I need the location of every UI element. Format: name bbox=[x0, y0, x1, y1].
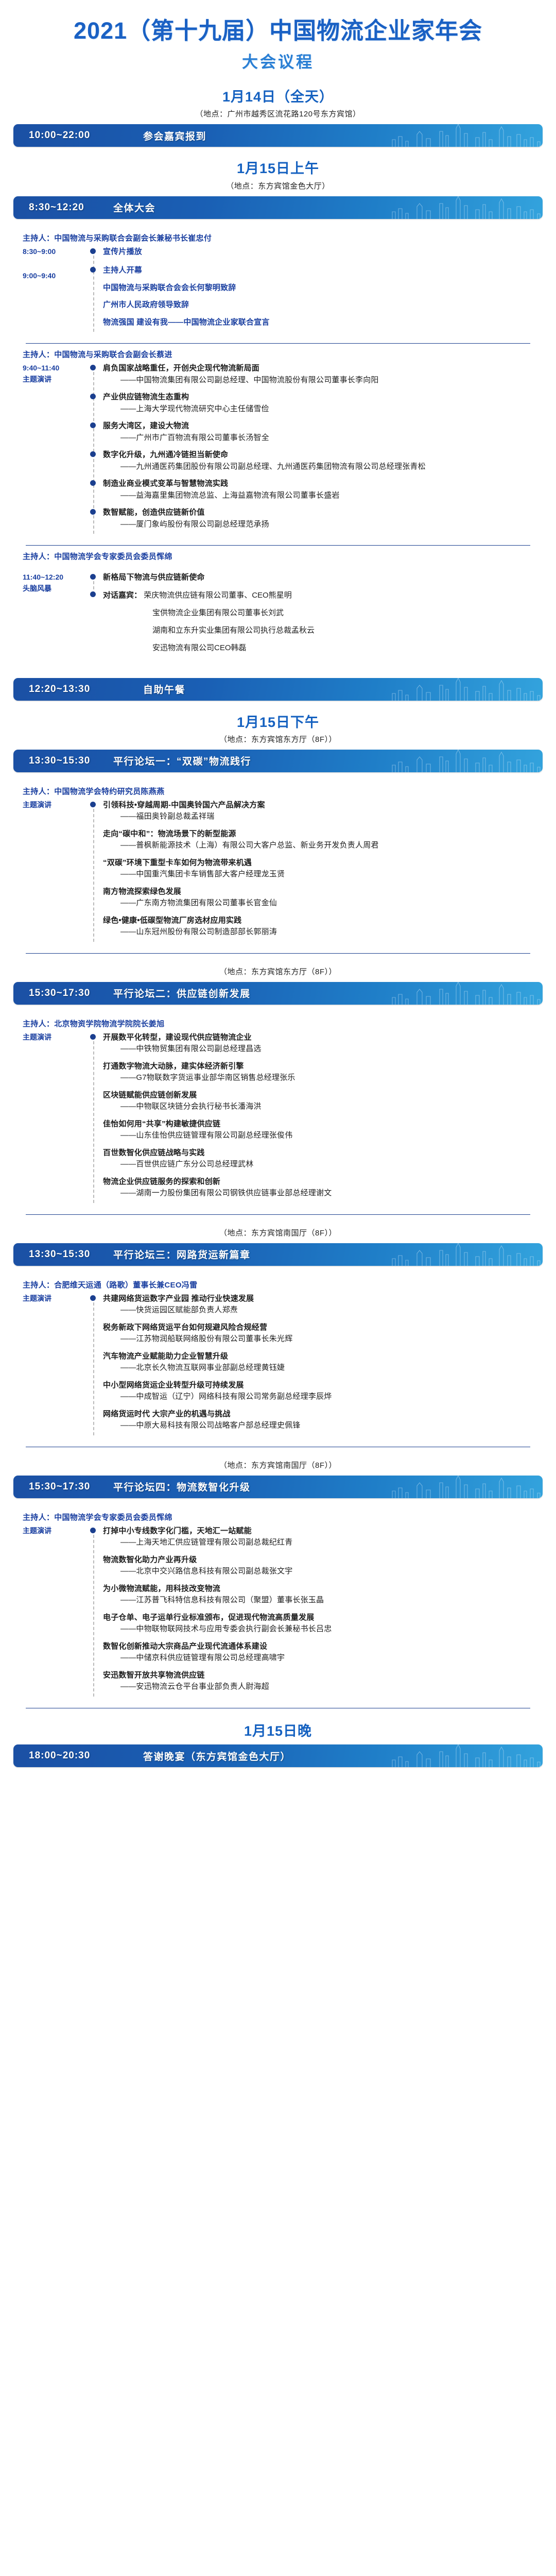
bullet-dot-icon bbox=[90, 248, 96, 254]
item-speaker: ——中成智运（辽宁）网络科技有限公司常务副总经理李辰烨 bbox=[103, 1391, 541, 1403]
item-speaker: ——中储京科供应链管理有限公司总经理高啸宇 bbox=[103, 1652, 541, 1664]
agenda-item: 中国物流与采购联合会会长何黎明致辞 bbox=[103, 282, 541, 294]
agenda-item: 服务大湾区，建设大物流 ——广州市广百物流有限公司董事长汤智全 bbox=[103, 420, 541, 444]
agenda-item: 新格局下物流与供应链新使命 bbox=[103, 572, 541, 584]
forum-3-session: 主持人：合肥维天运通（路歌）董事长兼CEO冯雷 主题演讲 共建网络货运数字产业园… bbox=[0, 1268, 556, 1452]
forum-4-venue-block: （地点：东方宾馆南国厅（8F）） bbox=[0, 1460, 556, 1470]
agenda-item: 数智化创新推动大宗商品产业现代流通体系建设 ——中储京科供应链管理有限公司总经理… bbox=[103, 1641, 541, 1664]
item-title: 百世数智化供应链战略与实践 bbox=[103, 1147, 541, 1159]
agenda-item: 为小微物流赋能，用科技改变物流 ——江苏普飞科特信息科技有限公司（聚盟）董事长张… bbox=[103, 1583, 541, 1606]
item-title: 制造业商业模式变革与智慧物流实践 bbox=[103, 478, 541, 490]
item-speaker: ——中国物流集团有限公司副总经理、中国物流股份有限公司董事长李向阳 bbox=[103, 375, 541, 386]
banner-label: 全体大会 bbox=[113, 200, 155, 214]
dialogue-label: 对话嘉宾： bbox=[103, 591, 142, 600]
item-speaker: ——益海嘉里集团物流总监、上海益嘉物流有限公司董事长盛岩 bbox=[103, 490, 541, 502]
item-speaker: ——山东佳怡供应链管理有限公司副总经理张俊伟 bbox=[103, 1130, 541, 1142]
timeline-time: 主题演讲 bbox=[15, 800, 89, 944]
day-venue: （地点：东方宾馆南国厅（8F）） bbox=[0, 1227, 556, 1238]
item-speaker: ——湖南一力股份集团有限公司钢铁供应链事业部总经理谢文 bbox=[103, 1188, 541, 1199]
banner-label: 自助午餐 bbox=[143, 682, 185, 696]
host-line: 主持人：中国物流与采购联合会副会长蔡进 bbox=[23, 349, 541, 360]
item-speaker: ——安迅物流云仓平台事业部负责人尉海超 bbox=[103, 1681, 541, 1693]
item-title: 数智化创新推动大宗商品产业现代流通体系建设 bbox=[103, 1641, 541, 1653]
banner-label: 平行论坛三：网路货运新篇章 bbox=[113, 1247, 251, 1261]
item-title: 打通数字物流大动脉，建实体经济新引擎 bbox=[103, 1061, 541, 1073]
agenda-item: 打通数字物流大动脉，建实体经济新引擎 ——G7物联数字货运事业部华南区销售总经理… bbox=[103, 1061, 541, 1084]
timeline-items: 打掉中小专线数字化门槛，天地汇一站赋能 ——上海天地汇供应链管理有限公司副总裁纪… bbox=[100, 1526, 541, 1699]
banner-banquet: 18:00~20:30 答谢晚宴（东方宾馆金色大厅） bbox=[13, 1744, 543, 1767]
item-title: 打掉中小专线数字化门槛，天地汇一站赋能 bbox=[103, 1526, 541, 1537]
item-title: 税务新政下网络货运平台如何规避风险合规经营 bbox=[103, 1322, 541, 1334]
timeline-block: 主题演讲 开展数平化转型，建设现代供应链物流企业 ——中铁物贸集团有限公司副总经… bbox=[15, 1032, 541, 1205]
time-kind: 主题演讲 bbox=[23, 1032, 89, 1043]
time-range: 9:40~11:40 bbox=[23, 363, 89, 374]
agenda-item: 物流企业供应链服务的探索和创新 ——湖南一力股份集团有限公司钢铁供应链事业部总经… bbox=[103, 1176, 541, 1199]
rail-line bbox=[93, 250, 94, 332]
banner-forum-3: 13:30~15:30 平行论坛三：网路货运新篇章 bbox=[13, 1243, 543, 1266]
agenda-item: 产业供应链物流生态重构 ——上海大学现代物流研究中心主任储雪俭 bbox=[103, 392, 541, 415]
item-speaker: ——上海天地汇供应链管理有限公司副总裁纪红青 bbox=[103, 1537, 541, 1549]
day-heading-jan14: 1月14日（全天） （地点：广州市越秀区流花路120号东方宾馆） bbox=[0, 89, 556, 119]
item-speaker: ——广州市广百物流有限公司董事长汤智全 bbox=[103, 432, 541, 444]
item-title: 绿色•健康•低碳型物流厂房选材应用实践 bbox=[103, 915, 541, 927]
agenda-item: 走向“碳中和”：物流场景下的新型能源 ——普枫新能源技术（上海）有限公司大客户总… bbox=[103, 828, 541, 852]
agenda-item: 共建网络货运数字产业园 推动行业快速发展 ——快货运园区赋能部负责人郑焘 bbox=[103, 1293, 541, 1316]
banner-forum-2: 15:30~17:30 平行论坛二：供应链创新发展 bbox=[13, 982, 543, 1005]
agenda-item: 对话嘉宾： 荣庆物流供应链有限公司董事、CEO熊星明 bbox=[103, 589, 541, 602]
time-kind: 头脑风暴 bbox=[23, 583, 89, 595]
forum-1-session: 主持人：中国物流学会特约研究员陈燕燕 主题演讲 引领科技•穿越周期-中国奥铃国六… bbox=[0, 774, 556, 959]
timeline-time: 11:40~12:20 头脑风暴 bbox=[15, 572, 89, 659]
bullet-dot-icon bbox=[90, 1034, 96, 1040]
timeline-block-keynotes: 9:40~11:40 主题演讲 肩负国家战略重任，开创央企现代物流新局面 ——中… bbox=[15, 363, 541, 536]
timeline-block: 主题演讲 打掉中小专线数字化门槛，天地汇一站赋能 ——上海天地汇供应链管理有限公… bbox=[15, 1526, 541, 1699]
agenda-item: 数字化升级，九州通冷链担当新使命 ——九州通医药集团股份有限公司副总经理、九州通… bbox=[103, 449, 541, 472]
item-speaker: ——中物联区块链分会执行秘书长潘海洪 bbox=[103, 1101, 541, 1113]
item-speaker: ——广东南方物流集团有限公司董事长官金仙 bbox=[103, 897, 541, 909]
banner-label: 平行论坛二：供应链创新发展 bbox=[113, 986, 251, 1000]
agenda-item: 引领科技•穿越周期-中国奥铃国六产品解决方案 ——福田奥铃副总裁孟祥瑞 bbox=[103, 800, 541, 823]
item-speaker: ——普枫新能源技术（上海）有限公司大客户总监、新业务开发负责人周君 bbox=[103, 840, 541, 852]
item-title: 电子仓单、电子运单行业标准颁布，促进现代物流高质量发展 bbox=[103, 1612, 541, 1624]
agenda-item: 打掉中小专线数字化门槛，天地汇一站赋能 ——上海天地汇供应链管理有限公司副总裁纪… bbox=[103, 1526, 541, 1549]
agenda-item: 安迅数智开放共享物流供应链 ——安迅物流云仓平台事业部负责人尉海超 bbox=[103, 1670, 541, 1693]
host-line: 主持人：中国物流与采购联合会副会长兼秘书长崔忠付 bbox=[23, 232, 541, 243]
agenda-item: 主持人开幕 bbox=[103, 265, 541, 277]
forum-4-session: 主持人：中国物流学会专家委员会委员恽绵 主题演讲 打掉中小专线数字化门槛，天地汇… bbox=[0, 1500, 556, 1714]
banner-time: 13:30~15:30 bbox=[13, 755, 106, 767]
item-speaker: ——中物联物联网技术与应用专委会执行副会长兼秘书长吕忠 bbox=[103, 1623, 541, 1635]
bullet-dot-icon bbox=[90, 267, 96, 273]
item-speaker: ——上海大学现代物流研究中心主任储雪俭 bbox=[103, 403, 541, 415]
agenda-item: 广州市人民政府领导致辞 bbox=[103, 299, 541, 311]
banner-label: 平行论坛一：“双碳”物流践行 bbox=[113, 754, 251, 768]
banner-time: 8:30~12:20 bbox=[13, 202, 106, 213]
timeline-items: 引领科技•穿越周期-中国奥铃国六产品解决方案 ——福田奥铃副总裁孟祥瑞 走向“碳… bbox=[100, 800, 541, 944]
agenda-item: 佳怡如何用“共享”构建敏捷供应链 ——山东佳怡供应链管理有限公司副总经理张俊伟 bbox=[103, 1118, 541, 1142]
banner-time: 13:30~15:30 bbox=[13, 1249, 106, 1260]
host-line: 主持人：北京物资学院物流学院院长姜旭 bbox=[23, 1018, 541, 1029]
bullet-dot-icon bbox=[90, 591, 96, 597]
item-speaker: ——山东冠州股份有限公司制造部部长郭丽涛 bbox=[103, 926, 541, 938]
bullet-dot-icon bbox=[90, 574, 96, 580]
skyline-icon bbox=[388, 678, 543, 701]
divider bbox=[26, 545, 530, 546]
agenda-item: 物流强国 建设有我——中国物流企业家联合宣言 bbox=[103, 317, 541, 329]
time-range: 8:30~9:00 bbox=[23, 246, 89, 258]
banner-plenary: 8:30~12:20 全体大会 bbox=[13, 196, 543, 219]
agenda-item: 百世数智化供应链战略与实践 ——百世供应链广东分公司总经理武林 bbox=[103, 1147, 541, 1171]
bullet-dot-icon bbox=[90, 802, 96, 807]
item-speaker: ——中铁物贸集团有限公司副总经理昌选 bbox=[103, 1043, 541, 1055]
item-title: 安迅数智开放共享物流供应链 bbox=[103, 1670, 541, 1682]
timeline-items: 共建网络货运数字产业园 推动行业快速发展 ——快货运园区赋能部负责人郑焘 税务新… bbox=[100, 1293, 541, 1437]
item-speaker: ——北京长久物流互联网事业部副总经理黄钰婕 bbox=[103, 1362, 541, 1374]
timeline-time: 9:40~11:40 主题演讲 bbox=[15, 363, 89, 536]
timeline-items: 新格局下物流与供应链新使命 对话嘉宾： 荣庆物流供应链有限公司董事、CEO熊星明… bbox=[100, 572, 541, 659]
skyline-icon bbox=[388, 1476, 543, 1498]
item-speaker: ——中原大易科技有限公司战略客户部总经理史佩锋 bbox=[103, 1420, 541, 1432]
forum-2-session: 主持人：北京物资学院物流学院院长姜旭 主题演讲 开展数平化转型，建设现代供应链物… bbox=[0, 1007, 556, 1220]
banner-time: 12:20~13:30 bbox=[13, 684, 106, 695]
item-title: 数字化升级，九州通冷链担当新使命 bbox=[103, 449, 541, 461]
timeline-time: 主题演讲 bbox=[15, 1032, 89, 1205]
timeline-items: 肩负国家战略重任，开创央企现代物流新局面 ——中国物流集团有限公司副总经理、中国… bbox=[100, 363, 541, 536]
item-speaker: ——厦门象屿股份有限公司副总经理范承扬 bbox=[103, 519, 541, 531]
item-title: 引领科技•穿越周期-中国奥铃国六产品解决方案 bbox=[103, 800, 541, 811]
item-title: 广州市人民政府领导致辞 bbox=[103, 299, 541, 311]
day-title: 1月15日晚 bbox=[0, 1723, 556, 1739]
divider bbox=[26, 1214, 530, 1215]
page-subtitle: 大会议程 bbox=[0, 49, 556, 72]
agenda-item: 南方物流探索绿色发展 ——广东南方物流集团有限公司董事长官金仙 bbox=[103, 886, 541, 909]
skyline-icon bbox=[388, 124, 543, 147]
item-title: 主持人开幕 bbox=[103, 265, 541, 277]
day-heading-jan15-am: 1月15日上午 （地点：东方宾馆金色大厅） bbox=[0, 160, 556, 191]
skyline-icon bbox=[388, 1243, 543, 1266]
day-heading-jan15-pm: 1月15日下午 （地点：东方宾馆东方厅（8F）） bbox=[0, 714, 556, 744]
item-title: 佳怡如何用“共享”构建敏捷供应链 bbox=[103, 1118, 541, 1130]
agenda-page: 2021（第十九届）中国物流企业家年会 大会议程 1月14日（全天） （地点：广… bbox=[0, 0, 556, 1781]
item-title: 汽车物流产业赋能助力企业智慧升级 bbox=[103, 1351, 541, 1363]
timeline-block-opening: 8:30~9:00 9:00~9:40 宣传片播放 主持人开幕 中国物流与采购联… bbox=[15, 246, 541, 334]
item-title: 开展数平化转型，建设现代供应链物流企业 bbox=[103, 1032, 541, 1044]
guest-name: 荣庆物流供应链有限公司董事、CEO熊星明 bbox=[144, 591, 292, 600]
day-title: 1月15日下午 bbox=[0, 714, 556, 731]
timeline-block: 主题演讲 共建网络货运数字产业园 推动行业快速发展 ——快货运园区赋能部负责人郑… bbox=[15, 1293, 541, 1437]
time-kind: 主题演讲 bbox=[23, 1293, 89, 1304]
timeline-rail bbox=[89, 572, 100, 659]
bullet-dot-icon bbox=[90, 509, 96, 515]
item-title: 网络货运时代 大宗产业的机遇与挑战 bbox=[103, 1409, 541, 1420]
item-title: 产业供应链物流生态重构 bbox=[103, 392, 541, 403]
item-speaker: ——九州通医药集团股份有限公司副总经理、九州通医药集团物流有限公司总经理张青松 bbox=[103, 461, 541, 473]
host-line: 主持人：中国物流学会专家委员会委员恽绵 bbox=[23, 1512, 541, 1522]
forum-3-venue-block: （地点：东方宾馆南国厅（8F）） bbox=[0, 1227, 556, 1238]
guest-name: 安迅物流有限公司CEO韩磊 bbox=[103, 642, 541, 654]
skyline-icon bbox=[388, 196, 543, 219]
day-heading-jan15-evening: 1月15日晚 bbox=[0, 1723, 556, 1739]
agenda-item: “双碳”环境下重型卡车如何为物流带来机遇 ——中国重汽集团卡车销售部大客户经理龙… bbox=[103, 857, 541, 880]
agenda-item: 网络货运时代 大宗产业的机遇与挑战 ——中原大易科技有限公司战略客户部总经理史佩… bbox=[103, 1409, 541, 1432]
item-title: 服务大湾区，建设大物流 bbox=[103, 420, 541, 432]
masthead: 2021（第十九届）中国物流企业家年会 大会议程 bbox=[0, 0, 556, 75]
agenda-item: 开展数平化转型，建设现代供应链物流企业 ——中铁物贸集团有限公司副总经理昌选 bbox=[103, 1032, 541, 1055]
agenda-item: 税务新政下网络货运平台如何规避风险合规经营 ——江苏物润船联网络股份有限公司董事… bbox=[103, 1322, 541, 1345]
agenda-item: 中小型网络货运企业转型升级可持续发展 ——中成智运（辽宁）网络科技有限公司常务副… bbox=[103, 1380, 541, 1403]
time-kind: 主题演讲 bbox=[23, 374, 89, 385]
rail-line bbox=[93, 1530, 94, 1697]
item-title: 共建网络货运数字产业园 推动行业快速发展 bbox=[103, 1293, 541, 1305]
item-title: 物流数智化助力产业再升级 bbox=[103, 1554, 541, 1566]
item-title: 肩负国家战略重任，开创央企现代物流新局面 bbox=[103, 363, 541, 375]
divider bbox=[26, 953, 530, 954]
item-title: 新格局下物流与供应链新使命 bbox=[103, 572, 541, 584]
plenary-session: 主持人：中国物流与采购联合会副会长兼秘书长崔忠付 8:30~9:00 9:00~… bbox=[0, 221, 556, 673]
forum-2-venue-block: （地点：东方宾馆东方厅（8F）） bbox=[0, 966, 556, 977]
dialogue-guest-row: 对话嘉宾： 荣庆物流供应链有限公司董事、CEO熊星明 bbox=[103, 589, 541, 602]
agenda-item: 区块链赋能供应链创新发展 ——中物联区块链分会执行秘书长潘海洪 bbox=[103, 1090, 541, 1113]
day-title: 1月15日上午 bbox=[0, 160, 556, 177]
item-title: 中国物流与采购联合会会长何黎明致辞 bbox=[103, 282, 541, 294]
host-line: 主持人：中国物流学会专家委员会委员恽绵 bbox=[23, 551, 541, 562]
day-venue: （地点：广州市越秀区流花路120号东方宾馆） bbox=[0, 108, 556, 119]
rail-line bbox=[93, 1297, 94, 1435]
agenda-item: 肩负国家战略重任，开创央企现代物流新局面 ——中国物流集团有限公司副总经理、中国… bbox=[103, 363, 541, 386]
time-range: 11:40~12:20 bbox=[23, 572, 89, 583]
timeline-block: 主题演讲 引领科技•穿越周期-中国奥铃国六产品解决方案 ——福田奥铃副总裁孟祥瑞… bbox=[15, 800, 541, 944]
skyline-icon bbox=[388, 750, 543, 772]
banner-label: 参会嘉宾报到 bbox=[143, 129, 206, 143]
divider bbox=[26, 343, 530, 344]
guest-name: 湖南和立东升实业集团有限公司执行总裁孟秋云 bbox=[103, 624, 541, 637]
item-speaker: ——百世供应链广东分公司总经理武林 bbox=[103, 1159, 541, 1171]
timeline-rail bbox=[89, 1032, 100, 1205]
agenda-item: 制造业商业模式变革与智慧物流实践 ——益海嘉里集团物流总监、上海益嘉物流有限公司… bbox=[103, 478, 541, 501]
banner-forum-4: 15:30~17:30 平行论坛四：物流数智化升级 bbox=[13, 1476, 543, 1498]
day-title: 1月14日（全天） bbox=[0, 89, 556, 105]
item-speaker: ——江苏普飞科特信息科技有限公司（聚盟）董事长张玉晶 bbox=[103, 1595, 541, 1606]
skyline-icon bbox=[388, 1744, 543, 1767]
bullet-dot-icon bbox=[90, 1295, 96, 1301]
timeline-rail bbox=[89, 246, 100, 334]
item-title: 物流企业供应链服务的探索和创新 bbox=[103, 1176, 541, 1188]
item-title: 物流强国 建设有我——中国物流企业家联合宣言 bbox=[103, 317, 541, 329]
rail-line bbox=[93, 804, 94, 942]
skyline-icon bbox=[388, 982, 543, 1005]
item-title: 走向“碳中和”：物流场景下的新型能源 bbox=[103, 828, 541, 840]
banner-time: 15:30~17:30 bbox=[13, 988, 106, 999]
item-speaker: ——北京中交兴路信息科技有限公司副总裁张文宇 bbox=[103, 1566, 541, 1578]
banner-forum-1: 13:30~15:30 平行论坛一：“双碳”物流践行 bbox=[13, 750, 543, 772]
timeline-time: 主题演讲 bbox=[15, 1526, 89, 1699]
banner-time: 10:00~22:00 bbox=[13, 130, 106, 141]
page-title: 2021（第十九届）中国物流企业家年会 bbox=[0, 18, 556, 44]
item-speaker: ——快货运园区赋能部负责人郑焘 bbox=[103, 1304, 541, 1316]
agenda-item: 汽车物流产业赋能助力企业智慧升级 ——北京长久物流互联网事业部副总经理黄钰婕 bbox=[103, 1351, 541, 1374]
day-venue: （地点：东方宾馆东方厅（8F）） bbox=[0, 734, 556, 744]
timeline-rail bbox=[89, 1526, 100, 1699]
bullet-dot-icon bbox=[90, 394, 96, 399]
guest-name: 宝供物流企业集团有限公司董事长刘武 bbox=[103, 607, 541, 619]
day-venue: （地点：东方宾馆东方厅（8F）） bbox=[0, 966, 556, 977]
bullet-dot-icon bbox=[90, 480, 96, 486]
bullet-dot-icon bbox=[90, 1528, 96, 1533]
item-title: 区块链赋能供应链创新发展 bbox=[103, 1090, 541, 1101]
host-line: 主持人：中国物流学会特约研究员陈燕燕 bbox=[23, 786, 541, 796]
item-speaker: ——江苏物润船联网络股份有限公司董事长朱光辉 bbox=[103, 1333, 541, 1345]
bullet-dot-icon bbox=[90, 451, 96, 457]
agenda-item: 宣传片播放 bbox=[103, 246, 541, 258]
host-line: 主持人：合肥维天运通（路歌）董事长兼CEO冯雷 bbox=[23, 1279, 541, 1290]
timeline-rail bbox=[89, 1293, 100, 1437]
item-title: 宣传片播放 bbox=[103, 246, 541, 258]
timeline-items: 开展数平化转型，建设现代供应链物流企业 ——中铁物贸集团有限公司副总经理昌选 打… bbox=[100, 1032, 541, 1205]
item-title: 南方物流探索绿色发展 bbox=[103, 886, 541, 898]
timeline-time: 主题演讲 bbox=[15, 1293, 89, 1437]
timeline-rail bbox=[89, 800, 100, 944]
agenda-item: 电子仓单、电子运单行业标准颁布，促进现代物流高质量发展 ——中物联物联网技术与应… bbox=[103, 1612, 541, 1635]
banner-label: 平行论坛四：物流数智化升级 bbox=[113, 1480, 251, 1494]
day-venue: （地点：东方宾馆南国厅（8F）） bbox=[0, 1460, 556, 1470]
banner-registration: 10:00~22:00 参会嘉宾报到 bbox=[13, 124, 543, 147]
item-title: 数智赋能，创造供应链新价值 bbox=[103, 507, 541, 519]
item-title: “双碳”环境下重型卡车如何为物流带来机遇 bbox=[103, 857, 541, 869]
timeline-block-brainstorm: 11:40~12:20 头脑风暴 新格局下物流与供应链新使命 对话嘉宾： 荣庆物… bbox=[15, 572, 541, 659]
item-title: 中小型网络货运企业转型升级可持续发展 bbox=[103, 1380, 541, 1392]
agenda-item: 物流数智化助力产业再升级 ——北京中交兴路信息科技有限公司副总裁张文宇 bbox=[103, 1554, 541, 1578]
time-kind: 主题演讲 bbox=[23, 1526, 89, 1537]
banner-time: 15:30~17:30 bbox=[13, 1481, 106, 1493]
day-venue: （地点：东方宾馆金色大厅） bbox=[0, 180, 556, 191]
agenda-item: 数智赋能，创造供应链新价值 ——厦门象屿股份有限公司副总经理范承扬 bbox=[103, 507, 541, 530]
divider bbox=[26, 1708, 530, 1708]
divider bbox=[26, 1447, 530, 1447]
time-kind: 主题演讲 bbox=[23, 800, 89, 811]
banner-lunch: 12:20~13:30 自助午餐 bbox=[13, 678, 543, 701]
bullet-dot-icon bbox=[90, 422, 96, 428]
item-speaker: ——中国重汽集团卡车销售部大客户经理龙玉贤 bbox=[103, 869, 541, 880]
banner-label: 答谢晚宴（东方宾馆金色大厅） bbox=[143, 1749, 291, 1763]
item-title: 为小微物流赋能，用科技改变物流 bbox=[103, 1583, 541, 1595]
timeline-items: 宣传片播放 主持人开幕 中国物流与采购联合会会长何黎明致辞 广州市人民政府领导致… bbox=[100, 246, 541, 334]
time-range: 9:00~9:40 bbox=[23, 270, 89, 282]
bullet-dot-icon bbox=[90, 365, 96, 370]
rail-line bbox=[93, 1036, 94, 1203]
timeline-time: 8:30~9:00 9:00~9:40 bbox=[15, 246, 89, 334]
banner-time: 18:00~20:30 bbox=[13, 1750, 106, 1761]
agenda-item: 绿色•健康•低碳型物流厂房选材应用实践 ——山东冠州股份有限公司制造部部长郭丽涛 bbox=[103, 915, 541, 938]
item-speaker: ——福田奥铃副总裁孟祥瑞 bbox=[103, 811, 541, 823]
item-speaker: ——G7物联数字货运事业部华南区销售总经理张乐 bbox=[103, 1072, 541, 1084]
